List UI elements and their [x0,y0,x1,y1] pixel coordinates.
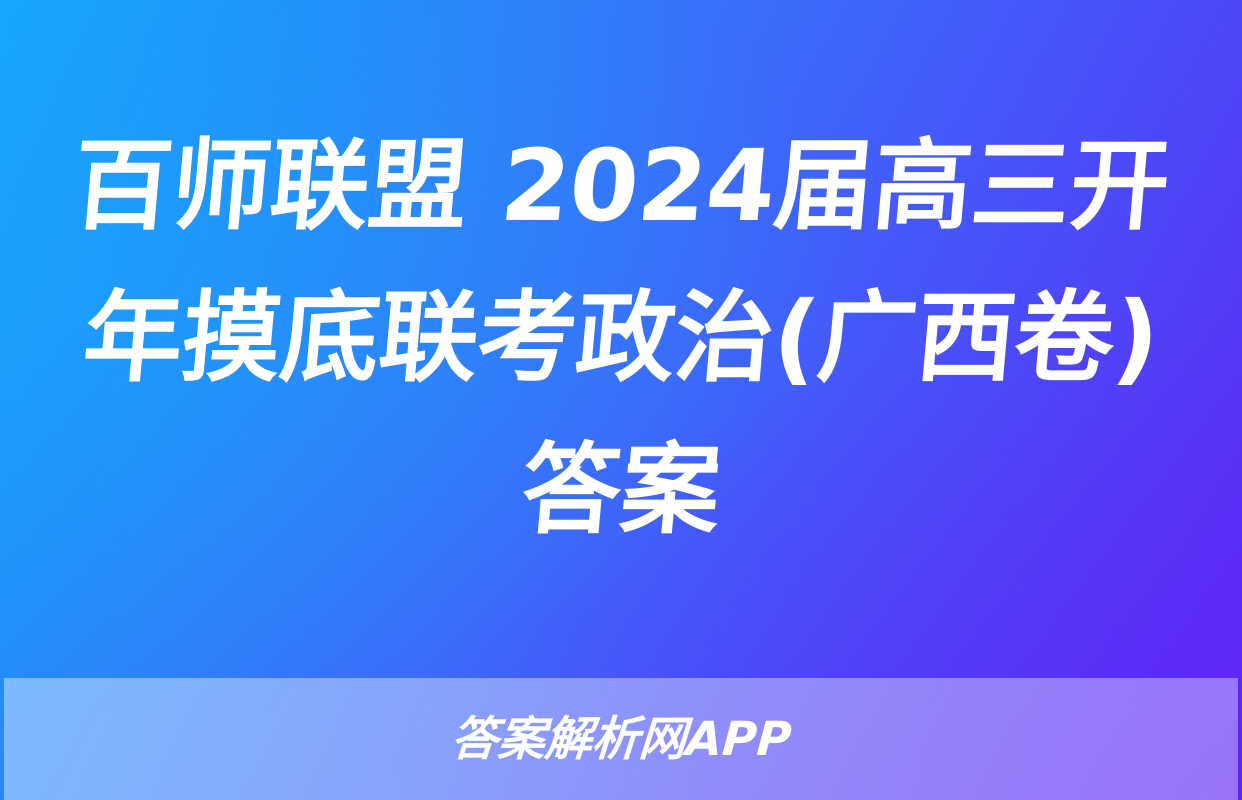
footer-brand-band: 答案解析网APP [4,678,1238,800]
footer-brand-label: 答案解析网APP [449,716,793,763]
poster-canvas: 百师联盟 2024届高三开 年摸底联考政治(广西卷) 答案 答案解析网APP [0,0,1242,800]
poster-title-block: 百师联盟 2024届高三开 年摸底联考政治(广西卷) 答案 [0,0,1242,678]
poster-title-line-1: 百师联盟 2024届高三开 [49,111,1192,263]
poster-title-line-2: 年摸底联考政治(广西卷) [49,263,1192,415]
poster-title-line-3: 答案 [49,415,1192,567]
